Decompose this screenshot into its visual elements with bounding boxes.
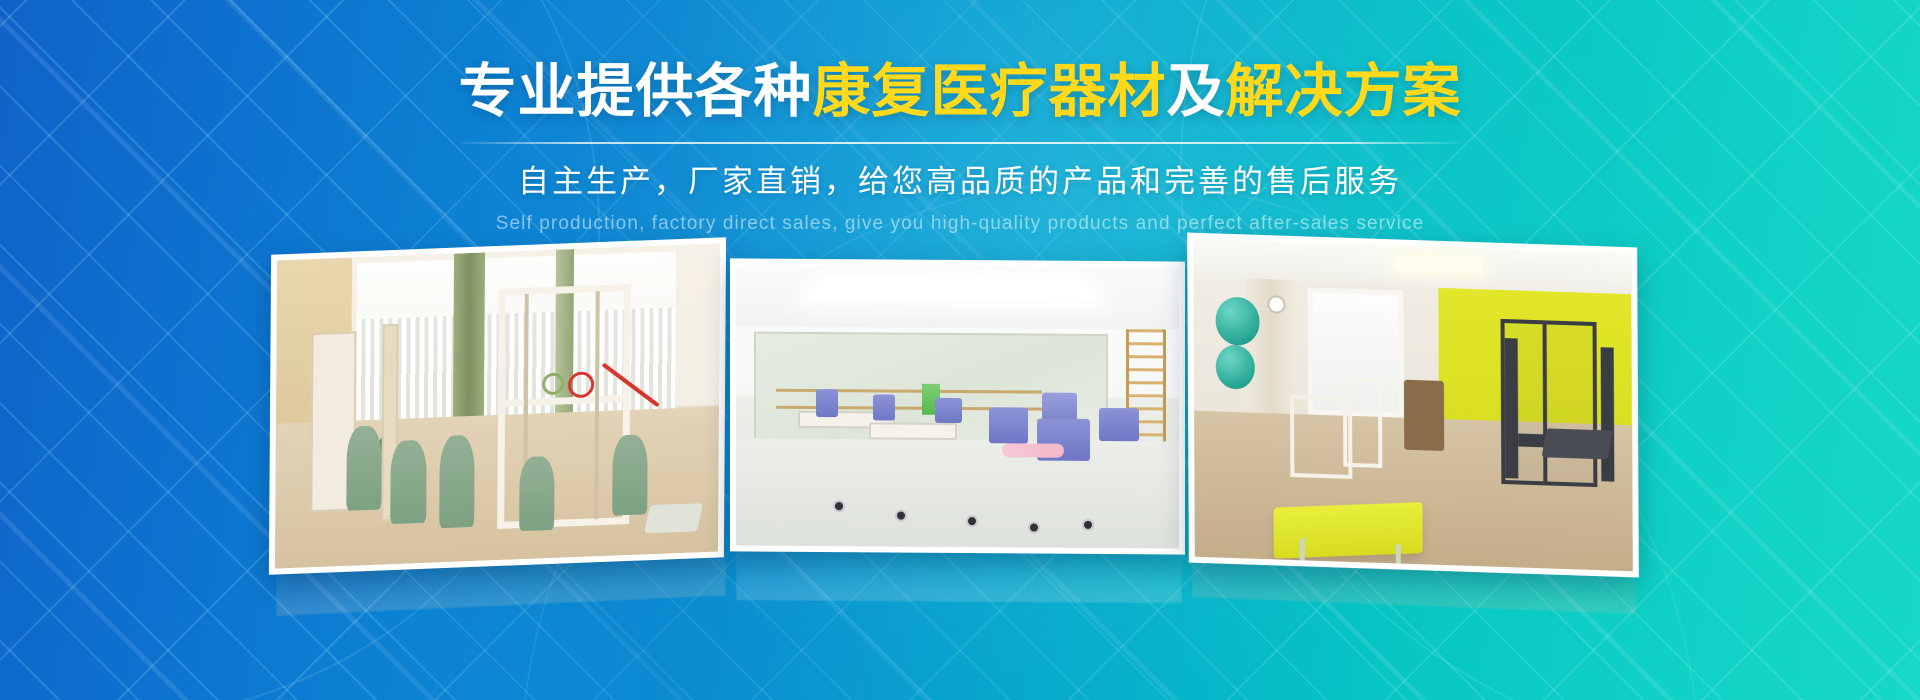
headline-segment-2: 康复医疗器材 bbox=[812, 57, 1166, 125]
headline-segment-3: 及 bbox=[1167, 57, 1226, 125]
banner-subtitle-chinese: 自主生产，厂家直销，给您高品质的产品和完善的售后服务 bbox=[0, 164, 1920, 201]
headline-segment-1: 专业提供各种 bbox=[458, 57, 812, 125]
photo-image-rehab-training-room bbox=[275, 243, 720, 568]
headline-divider bbox=[460, 142, 1460, 144]
photo-strip bbox=[0, 258, 1920, 558]
banner-text-block: 专业提供各种康复医疗器材及解决方案 自主生产，厂家直销，给您高品质的产品和完善的… bbox=[0, 62, 1920, 236]
promo-banner: 专业提供各种康复医疗器材及解决方案 自主生产，厂家直销，给您高品质的产品和完善的… bbox=[0, 0, 1920, 700]
photo-frame-fitness-gym[interactable] bbox=[1187, 233, 1639, 578]
headline-segment-4: 解决方案 bbox=[1226, 57, 1462, 125]
photo-frame-therapy-hall[interactable] bbox=[730, 258, 1185, 554]
photo-image-therapy-hall bbox=[736, 264, 1179, 548]
banner-headline: 专业提供各种康复医疗器材及解决方案 bbox=[0, 62, 1920, 120]
photo-frame-rehab-training-room[interactable] bbox=[269, 237, 726, 575]
photo-image-fitness-gym bbox=[1193, 239, 1633, 572]
banner-subtitle-english: Self production, factory direct sales, g… bbox=[0, 213, 1920, 236]
